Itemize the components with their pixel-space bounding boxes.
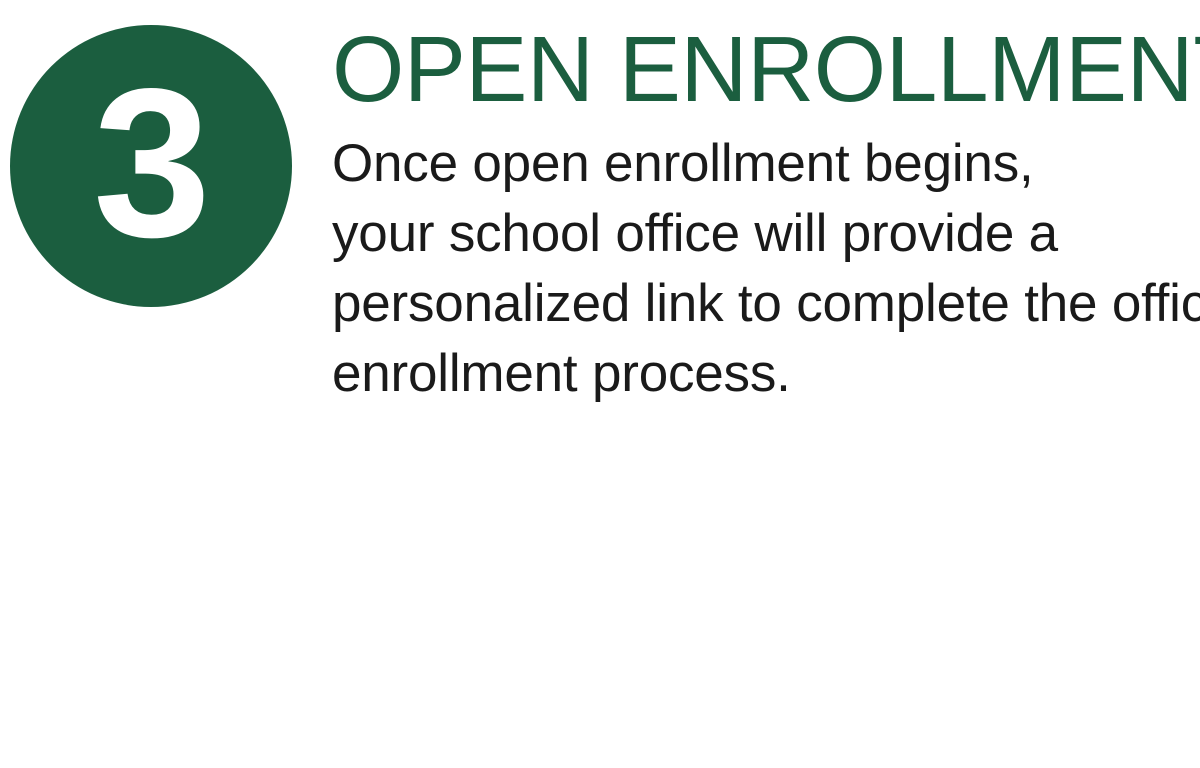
body-text-line: enrollment process. <box>332 339 1192 409</box>
body-text-line: your school office will provide a <box>332 199 1192 269</box>
body-text-line: personalized link to complete the offici… <box>332 269 1192 339</box>
step-number-badge: 3 <box>10 25 292 307</box>
body-text-line: Once open enrollment begins, <box>332 129 1192 199</box>
step-card-slide: 3 OPEN ENROLLMENT Once open enrollment b… <box>0 0 1200 768</box>
step-content: OPEN ENROLLMENT Once open enrollment beg… <box>332 22 1192 409</box>
body-text-block: Once open enrollment begins, your school… <box>332 129 1192 409</box>
step-number-text: 3 <box>93 57 209 269</box>
page-title: OPEN ENROLLMENT <box>332 22 1192 117</box>
